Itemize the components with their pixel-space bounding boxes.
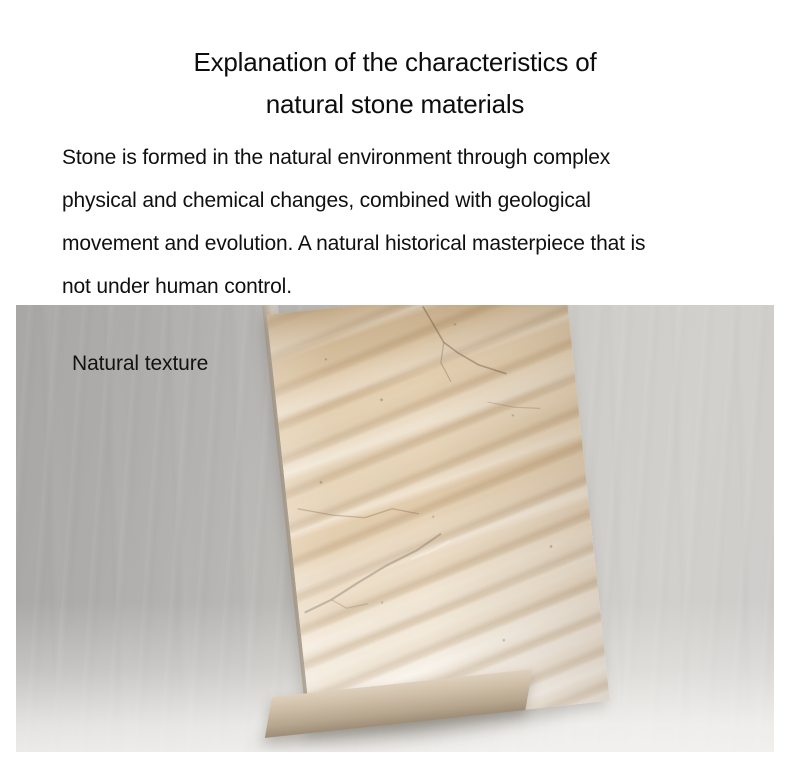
photo-caption: Natural texture	[72, 351, 208, 377]
description-line-3: movement and evolution. A natural histor…	[62, 222, 774, 265]
product-description-page: Explanation of the characteristics of na…	[0, 0, 790, 764]
description-line-4: not under human control.	[62, 265, 774, 308]
stone-front-face	[267, 305, 610, 733]
description-paragraph: Stone is formed in the natural environme…	[62, 136, 774, 308]
stone-photo: Natural texture	[16, 305, 774, 752]
description-line-1: Stone is formed in the natural environme…	[62, 136, 774, 179]
description-line-2: physical and chemical changes, combined …	[62, 179, 774, 222]
page-title: Explanation of the characteristics of na…	[0, 41, 790, 125]
page-title-line-2: natural stone materials	[0, 83, 790, 125]
stone-crack-lines	[267, 305, 610, 733]
page-title-line-1: Explanation of the characteristics of	[0, 41, 790, 83]
